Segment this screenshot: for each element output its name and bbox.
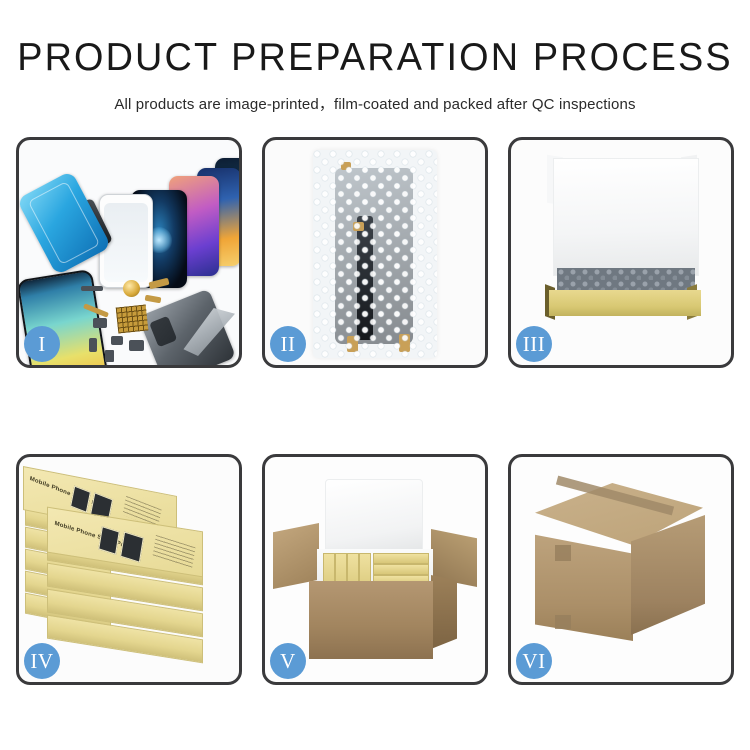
foam-lid-open	[325, 479, 423, 553]
chip-part	[81, 286, 103, 291]
step-badge-3: III	[516, 326, 552, 362]
flex-cable	[145, 295, 162, 304]
header: PRODUCT PREPARATION PROCESS All products…	[0, 0, 750, 114]
step-badge-2: II	[270, 326, 306, 362]
process-step-2: II	[262, 137, 488, 368]
chip-part	[105, 350, 114, 362]
process-step-3: III	[508, 137, 734, 368]
step-badge-6: VI	[516, 643, 552, 679]
page-title: PRODUCT PREPARATION PROCESS	[11, 38, 739, 79]
carton-flap-left	[273, 523, 319, 589]
blue-protective-film	[19, 170, 112, 275]
yellow-box	[373, 553, 429, 564]
carton-tape-mark	[555, 615, 571, 629]
bubble-wrap-texture	[313, 150, 437, 358]
step-badge-5: V	[270, 643, 306, 679]
chip-part	[89, 338, 97, 352]
foam-padding-sheet	[553, 158, 699, 276]
process-step-6: VI	[508, 454, 734, 685]
box-window-screen	[120, 531, 144, 562]
chip-part	[129, 340, 144, 351]
box-window-screen	[70, 486, 91, 513]
step-badge-1: I	[24, 326, 60, 362]
yellow-box	[373, 564, 429, 575]
step-badge-4: IV	[24, 643, 60, 679]
process-step-grid: I II III	[16, 137, 734, 685]
carton-front-face	[535, 523, 633, 641]
page-subtitle: All products are image-printed，film-coat…	[0, 93, 750, 114]
kraft-box-front	[549, 290, 701, 316]
carton-side	[431, 575, 457, 649]
process-step-5: V	[262, 454, 488, 685]
carton-front	[309, 581, 433, 659]
wireless-charging-coil	[123, 280, 140, 297]
chip-part	[111, 336, 123, 345]
bubble-wrap-bag	[313, 150, 437, 358]
process-step-4: Mobile Phone Spare Parts Mobile Phone Sp…	[16, 454, 242, 685]
carton-tape-mark	[555, 545, 571, 561]
box-spec-lines	[153, 535, 196, 569]
chip-part	[93, 318, 107, 328]
connector-grid	[116, 305, 149, 334]
box-window-screen	[98, 526, 120, 555]
process-step-1: I	[16, 137, 242, 368]
